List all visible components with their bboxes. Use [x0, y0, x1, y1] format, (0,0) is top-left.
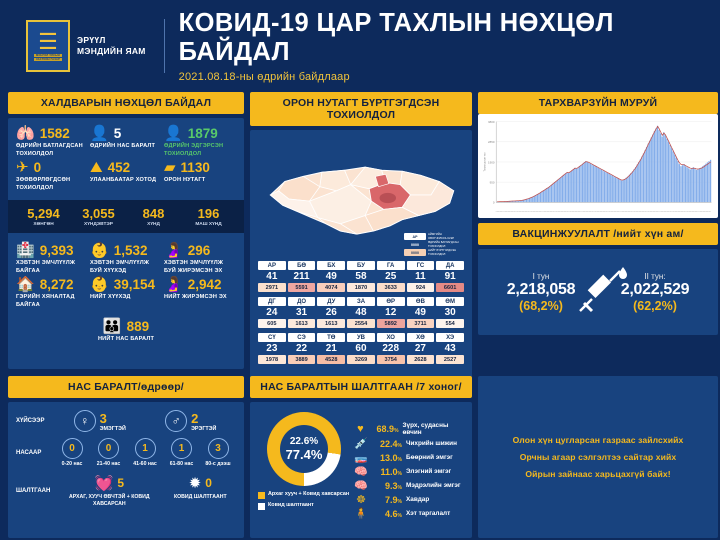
province-new-cases: 21: [317, 342, 345, 355]
death-causes-donut[interactable]: 22.6% 77.4%: [267, 412, 341, 486]
stat-value: 1879: [188, 126, 218, 141]
age-value: 0: [98, 438, 119, 459]
care-stat-value: 8,272: [40, 277, 74, 292]
death-causes-panel: НАС БАРАЛТЫН ШАЛТГААН /7 хоног/ 22.6% 77…: [250, 376, 472, 538]
province-total-cases: 605: [258, 319, 286, 328]
infection-stat-4: ⛰452УЛААНБААТАР ХОТОД: [90, 160, 162, 192]
death-causes-content: 22.6% 77.4% Архаг хууч + Ковид хавсарсан…: [258, 410, 464, 532]
advice-line-0: Олон хүн цугларсан газраас зайлсхийх: [513, 435, 684, 445]
mongolia-map[interactable]: АРАЙМГИЙН ОВОГЧИЛСОН НЭР0000ӨДРИЙН БАТЛА…: [258, 138, 464, 256]
stat-label: УЛААНБААТАР ХОТОД: [90, 177, 162, 185]
province-row-2: СҮ231978СЭ223889ТӨ214528УВ603269ХО228375…: [258, 333, 464, 364]
row-label-sex: ХҮЙСЭЭР: [16, 418, 54, 424]
svg-text:1900: 1900: [488, 160, 495, 164]
province-cell-ХӨ[interactable]: ХӨ272628: [407, 333, 435, 364]
map-panel: ОРОН НУТАГТ БҮРТГЭГДСЭН ТОХИОЛДОЛ: [250, 92, 472, 370]
province-cell-ДГ[interactable]: ДГ24605: [258, 297, 286, 328]
province-code: ХО: [377, 333, 405, 342]
province-code: ДГ: [258, 297, 286, 306]
pregnant-icon: 🤰: [164, 277, 183, 292]
hospital-icon: 🏥: [16, 243, 35, 258]
care-stat-value: 296: [188, 243, 211, 258]
map-legend-row-0: АРАЙМГИЙН ОВОГЧИЛСОН НЭР: [404, 233, 462, 240]
age-label: 21-40 нас: [91, 461, 127, 468]
advice-line-1: Орчны агаар сэлгэлтээ сайтар хийх: [520, 452, 677, 462]
male-icon: ♂: [165, 410, 187, 432]
condition-percent: 13.0%: [372, 453, 402, 463]
province-cell-УВ[interactable]: УВ603269: [347, 333, 375, 364]
province-cell-ДА[interactable]: ДА916601: [436, 261, 464, 292]
obesity-icon: 🧍: [354, 507, 368, 520]
donut-legend-item-1: Ковид шалтгаант: [258, 502, 350, 510]
province-code: ДА: [436, 261, 464, 270]
province-total-cases: 5591: [288, 283, 316, 292]
total-deaths-stat: 👪 889 НИЙТ НАС БАРАЛТ: [16, 319, 236, 344]
age-label: 61-80 нас: [164, 461, 200, 468]
province-new-cases: 91: [436, 270, 464, 283]
care-stat-top: 👶39,154: [90, 277, 162, 292]
care-stat-5: 🤰2,942НИЙТ ЖИРЭМСЭН ЭХ: [164, 277, 236, 309]
province-cell-ӨМ[interactable]: ӨМ30554: [436, 297, 464, 328]
dose-2-label: II тун:: [621, 272, 689, 281]
care-stat-top: 🏥9,393: [16, 243, 88, 258]
severity-item-0: 5,294ХӨНГӨН: [16, 206, 71, 227]
province-new-cases: 12: [377, 306, 405, 319]
province-code: СҮ: [258, 333, 286, 342]
dose-1-block: I тун 2,218,058 (68,2%): [507, 272, 575, 313]
care-stat-4: 👶39,154НИЙТ ХҮҮХЭД: [90, 277, 162, 309]
province-total-cases: 2554: [347, 319, 375, 328]
vaccination-panel-title: ВАКЦИНЖУУЛАЛТ /нийт хүн ам/: [478, 223, 718, 245]
province-cell-СҮ[interactable]: СҮ231978: [258, 333, 286, 364]
legend-chip: 0000: [404, 241, 426, 248]
child-face-icon: 👶: [90, 243, 109, 258]
age-item-4: 380-с дээш: [200, 438, 236, 468]
death-person-icon: 👪: [103, 319, 122, 334]
province-total-cases: 2628: [407, 355, 435, 364]
province-total-cases: 1613: [288, 319, 316, 328]
stat-value: 5: [114, 126, 122, 141]
care-stat-top: 👶1,532: [90, 243, 162, 258]
age-label: 80-с дээш: [200, 461, 236, 468]
condition-percent: 4.6%: [372, 509, 402, 519]
advice-panel: Олон хүн цугларсан газраас зайлсхийхОрчн…: [478, 376, 718, 538]
stat-label: ӨДРИЙН НАС БАРАЛТ: [90, 143, 162, 151]
death-causes-title: НАС БАРАЛТЫН ШАЛТГААН /7 хоног/: [250, 376, 472, 398]
province-code: БХ: [317, 261, 345, 270]
dose-1-label: I тун: [507, 272, 575, 281]
brain-icon: 🧠: [354, 479, 368, 492]
legend-text: АЙМГИЙН ОВОГЧИЛСОН НЭР: [428, 233, 462, 240]
condition-percent: 11.0%: [372, 467, 402, 477]
death-person-icon: 👤: [90, 126, 109, 141]
donut-legend-item-0: Архаг хууч + Ковид хавсарсан: [258, 491, 350, 499]
sex-text: 3ЭМЭГТЭЙ: [100, 411, 126, 432]
daily-deaths-body: ХҮЙСЭЭР ♀3ЭМЭГТЭЙ♂2ЭРЭГТЭЙ НАСААР 00-20 …: [8, 402, 244, 538]
province-total-cases: 5892: [377, 319, 405, 328]
daily-deaths-rows: ХҮЙСЭЭР ♀3ЭМЭГТЭЙ♂2ЭРЭГТЭЙ НАСААР 00-20 …: [16, 410, 236, 507]
sex-text: 2ЭРЭГТЭЙ: [191, 411, 216, 432]
province-new-cases: 49: [407, 306, 435, 319]
condition-name: Мэдрэлийн эмгэг: [406, 482, 461, 489]
mongolia-map-icon: ▰: [164, 160, 176, 175]
province-cell-ДУ[interactable]: ДУ261613: [317, 297, 345, 328]
page-title: КОВИД-19 ЦАР ТАХЛЫН НӨХЦӨЛ БАЙДАЛ: [179, 9, 704, 65]
care-stat-1: 👶1,532ХЭВТЭН ЭМЧЛҮҮЛЖ БУЙ ХҮҮХЭД: [90, 243, 162, 275]
ministry-line-2: МЭНДИЙН ЯАМ: [77, 46, 146, 57]
province-cell-БӨ[interactable]: БӨ2115591: [288, 261, 316, 292]
dose-2-block: II тун: 2,022,529 (62,2%): [621, 272, 689, 313]
row-label-cause: ШАЛТГААН: [16, 488, 54, 494]
logo-caption-line1: МОНГОЛ УЛСЫН: [34, 54, 62, 57]
total-deaths-top: 👪 889: [16, 319, 236, 334]
province-new-cases: 22: [288, 342, 316, 355]
province-code: БӨ: [288, 261, 316, 270]
care-stat-label: НИЙТ ХҮҮХЭД: [90, 294, 162, 302]
severity-label: ХӨНГӨН: [16, 222, 71, 227]
conditions-list: ♥68.9%Зүрх, судасны өвчин💉22.4%Чихрийн ш…: [354, 410, 464, 532]
province-new-cases: 24: [258, 306, 286, 319]
cause-top: 💓5: [63, 474, 155, 492]
stat-label: ӨДРИЙН БАТЛАГДСАН ТОХИОЛДОЛ: [16, 143, 88, 158]
condition-name: Элэгний эмгэг: [406, 468, 451, 475]
pregnant-icon: 🤰: [164, 243, 183, 258]
condition-row-3: 🧠11.0%Элэгний эмгэг: [354, 465, 464, 478]
condition-percent: 22.4%: [372, 439, 402, 449]
care-stat-top: 🏠8,272: [16, 277, 88, 292]
infection-stat-0: 🫁1582ӨДРИЙН БАТЛАГДСАН ТОХИОЛДОЛ: [16, 126, 88, 158]
child-face-icon: 👶: [90, 277, 109, 292]
sex-value: 2: [191, 411, 216, 426]
row-label-age: НАСААР: [16, 450, 54, 456]
province-cell-ГА[interactable]: ГА253633: [377, 261, 405, 292]
province-total-cases: 2971: [258, 283, 286, 292]
epidemic-curve-chart[interactable]: 0950190028503800||||||||||||||||||||||||…: [478, 114, 718, 218]
sex-item-1: ♂2ЭРЭГТЭЙ: [165, 410, 216, 432]
province-new-cases: 211: [288, 270, 316, 283]
province-new-cases: 49: [317, 270, 345, 283]
stat-top: ▰1130: [164, 160, 236, 175]
care-stat-top: 🤰296: [164, 243, 236, 258]
province-table: АР412971БӨ2115591БХ494074БУ581870ГА25363…: [258, 261, 464, 364]
province-total-cases: 1613: [317, 319, 345, 328]
heart-icon: ♥: [354, 423, 367, 435]
infection-stat-3: ✈0ЗӨӨВӨРЛӨГДСӨН ТОХИОЛДОЛ: [16, 160, 88, 192]
dashboard-grid: ХАЛДВАРЫН НӨХЦӨЛ БАЙДАЛ 🫁1582ӨДРИЙН БАТЛ…: [0, 92, 720, 538]
care-stat-2: 🤰296ХЭВТЭН ЭМЧЛҮҮЛЖ БУЙ ЖИРЭМСЭН ЭХ: [164, 243, 236, 275]
header-divider: [164, 19, 165, 73]
care-stat-label: ХЭВТЭН ЭМЧЛҮҮЛЖ БУЙ ЖИРЭМСЭН ЭХ: [164, 260, 236, 275]
province-cell-ДО[interactable]: ДО311613: [288, 297, 316, 328]
province-cell-ЗА[interactable]: ЗА482554: [347, 297, 375, 328]
cause-breakdown: 💓5АРХАГ, ХУУЧ ӨВЧТЭЙ + КОВИД ХАВСАРСАН✹0…: [54, 474, 236, 508]
province-total-cases: 4528: [317, 355, 345, 364]
care-stat-0: 🏥9,393ХЭВТЭН ЭМЧЛҮҮЛЖ БАЙГАА: [16, 243, 88, 275]
condition-percent: 68.9%: [371, 424, 399, 434]
dose-1-value: 2,218,058: [507, 281, 575, 299]
condition-name: Хэт таргалалт: [406, 510, 450, 517]
province-total-cases: 3889: [288, 355, 316, 364]
legend-text: ӨДРИЙН БАТЛАГДСАН ТОХИОЛДОЛ: [428, 241, 462, 248]
insulin-pen-icon: 💉: [354, 437, 368, 450]
severity-item-2: 848ХҮНД: [126, 206, 181, 227]
province-code: ДУ: [317, 297, 345, 306]
sex-breakdown: ♀3ЭМЭГТЭЙ♂2ЭРЭГТЭЙ: [54, 410, 236, 432]
curve-panel-title: ТАРХВАРЗҮЙН МУРУЙ: [478, 92, 718, 114]
svg-text:3800: 3800: [488, 120, 495, 124]
province-code: УВ: [347, 333, 375, 342]
page-header: ☰ МОНГОЛ УЛСЫН ЗАСГИЙН ГАЗАР ЭРҮҮЛ МЭНДИ…: [0, 0, 720, 92]
condition-percent: 9.3%: [372, 481, 402, 491]
province-total-cases: 1978: [258, 355, 286, 364]
stat-value: 452: [108, 160, 131, 175]
province-total-cases: 1870: [347, 283, 375, 292]
ub-monument-icon: ⛰: [90, 160, 103, 175]
care-stat-value: 1,532: [114, 243, 148, 258]
sex-label: ЭМЭГТЭЙ: [100, 426, 126, 432]
infection-stat-1: 👤5ӨДРИЙН НАС БАРАЛТ: [90, 126, 162, 158]
condition-row-5: ☸7.9%Хавдар: [354, 493, 464, 506]
map-legend-row-2: 0000НИЙТ БҮРТГЭГДСЭН ТОХИОЛДОЛ: [404, 249, 462, 256]
daily-deaths-panel: НАС БАРАЛТ/өдрөөр/ ХҮЙСЭЭР ♀3ЭМЭГТЭЙ♂2ЭР…: [8, 376, 244, 538]
severity-item-1: 3,055ХҮНДЭВТЭР: [71, 206, 126, 227]
province-total-cases: 3633: [377, 283, 405, 292]
legend-swatch: [258, 492, 265, 499]
age-value: 0: [62, 438, 83, 459]
care-stat-value: 39,154: [114, 277, 155, 292]
death-cause-item-1: ✹0КОВИД ШАЛТГААНТ: [174, 474, 227, 501]
severity-strip: 5,294ХӨНГӨН3,055ХҮНДЭВТЭР848ХҮНД196МАШ Х…: [8, 200, 244, 233]
care-stat-3: 🏠8,272ГЭРИЙН ХЯНАЛТАД БАЙГАА: [16, 277, 88, 309]
ministry-logo-block: ☰ МОНГОЛ УЛСЫН ЗАСГИЙН ГАЗАР ЭРҮҮЛ МЭНДИ…: [16, 20, 146, 72]
cause-top: ✹0: [174, 474, 227, 492]
stat-top: 🫁1582: [16, 126, 88, 141]
province-new-cases: 228: [377, 342, 405, 355]
stat-label: ӨДРИЙН ЭДГЭРСЭН ТОХИОЛДОЛ: [164, 143, 236, 158]
care-stat-label: НИЙТ ЖИРЭМСЭН ЭХ: [164, 294, 236, 302]
province-new-cases: 60: [347, 342, 375, 355]
stat-value: 0: [34, 160, 42, 175]
map-legend: АРАЙМГИЙН ОВОГЧИЛСОН НЭР0000ӨДРИЙН БАТЛА…: [404, 233, 462, 256]
condition-row-2: 🧫13.0%Бөөрний эмгэг: [354, 451, 464, 464]
province-cell-ТӨ[interactable]: ТӨ214528: [317, 333, 345, 364]
province-code: ДО: [288, 297, 316, 306]
infection-top-stats: 🫁1582ӨДРИЙН БАТЛАГДСАН ТОХИОЛДОЛ👤5ӨДРИЙН…: [16, 126, 236, 192]
dose-2-percent: (62,2%): [621, 299, 689, 313]
province-code: ЗА: [347, 297, 375, 306]
legend-label: Ковид шалтгаант: [268, 502, 314, 509]
care-stat-label: ГЭРИЙН ХЯНАЛТАД БАЙГАА: [16, 294, 88, 309]
province-new-cases: 25: [377, 270, 405, 283]
legend-label: Архаг хууч + Ковид хавсарсан: [268, 491, 349, 498]
daily-deaths-title: НАС БАРАЛТ/өдрөөр/: [8, 376, 244, 398]
province-new-cases: 27: [407, 342, 435, 355]
condition-name: Хавдар: [406, 496, 429, 503]
home-icon: 🏠: [16, 277, 35, 292]
condition-name: Бөөрний эмгэг: [406, 454, 453, 461]
stat-top: ✈0: [16, 160, 88, 175]
death-causes-body: 22.6% 77.4% Архаг хууч + Ковид хавсарсан…: [250, 402, 472, 538]
legend-chip: 0000: [404, 249, 426, 256]
province-new-cases: 48: [347, 306, 375, 319]
legend-text: НИЙТ БҮРТГЭГДСЭН ТОХИОЛДОЛ: [428, 249, 462, 256]
donut-legend: Архаг хууч + Ковид хавсарсанКовид шалтга…: [258, 491, 350, 510]
recovered-person-icon: 👤: [164, 126, 183, 141]
province-cell-ӨР[interactable]: ӨР125892: [377, 297, 405, 328]
province-row-0: АР412971БӨ2115591БХ494074БУ581870ГА25363…: [258, 261, 464, 292]
cause-value: 5: [117, 476, 124, 490]
province-new-cases: 41: [258, 270, 286, 283]
soyombo-symbol-icon: ☰: [38, 31, 58, 53]
severity-value: 5,294: [16, 206, 71, 221]
severity-value: 848: [126, 206, 181, 221]
severity-label: МАШ ХҮНД: [181, 222, 236, 227]
covid-only-percent: 22.6%: [290, 436, 318, 447]
stat-value: 1582: [40, 126, 70, 141]
comorbid-percent: 77.4%: [286, 447, 323, 462]
severity-item-3: 196МАШ ХҮНД: [181, 206, 236, 227]
map-legend-row-1: 0000ӨДРИЙН БАТЛАГДСАН ТОХИОЛДОЛ: [404, 241, 462, 248]
total-deaths-label: НИЙТ НАС БАРАЛТ: [16, 336, 236, 344]
province-new-cases: 43: [436, 342, 464, 355]
svg-text:Тохиолдлын тоо: Тохиолдлын тоо: [483, 152, 487, 172]
province-total-cases: 4074: [317, 283, 345, 292]
age-value: 1: [171, 438, 192, 459]
epidemic-curve-svg: 0950190028503800||||||||||||||||||||||||…: [481, 117, 715, 215]
province-code: СЭ: [288, 333, 316, 342]
infection-stat-2: 👤1879ӨДРИЙН ЭДГЭРСЭН ТОХИОЛДОЛ: [164, 126, 236, 158]
age-item-2: 141-60 нас: [127, 438, 163, 468]
province-total-cases: 3269: [347, 355, 375, 364]
dose-2-value: 2,022,529: [621, 281, 689, 299]
province-total-cases: 554: [436, 319, 464, 328]
province-total-cases: 924: [407, 283, 435, 292]
care-stats: 🏥9,393ХЭВТЭН ЭМЧЛҮҮЛЖ БАЙГАА👶1,532ХЭВТЭН…: [16, 243, 236, 309]
province-new-cases: 30: [436, 306, 464, 319]
ministry-name: ЭРҮҮЛ МЭНДИЙН ЯАМ: [77, 35, 146, 58]
severity-value: 196: [181, 206, 236, 221]
condition-name: Зүрх, судасны өвчин: [403, 422, 464, 436]
age-label: 0-20 нас: [54, 461, 90, 468]
age-value: 1: [135, 438, 156, 459]
care-stat-label: ХЭВТЭН ЭМЧЛҮҮЛЖ БУЙ ХҮҮХЭД: [90, 260, 162, 275]
female-icon: ♀: [74, 410, 96, 432]
virus-icon: ✹: [189, 474, 202, 492]
cancer-cell-icon: ☸: [354, 493, 368, 506]
svg-text:2850: 2850: [488, 140, 495, 144]
age-label: 41-60 нас: [127, 461, 163, 468]
government-emblem-icon: ☰ МОНГОЛ УЛСЫН ЗАСГИЙН ГАЗАР: [26, 20, 70, 72]
dose-1-percent: (68,2%): [507, 299, 575, 313]
care-stat-top: 🤰2,942: [164, 277, 236, 292]
province-cell-ГС[interactable]: ГС11924: [407, 261, 435, 292]
province-total-cases: 3754: [377, 355, 405, 364]
page-subtitle: 2021.08.18-ны өдрийн байдлаар: [179, 71, 704, 83]
age-breakdown: 00-20 нас021-40 нас141-60 нас161-80 нас3…: [54, 438, 236, 468]
province-new-cases: 58: [347, 270, 375, 283]
kidney-icon: 🧫: [354, 451, 368, 464]
airplane-icon: ✈: [16, 160, 29, 175]
province-cell-ӨВ[interactable]: ӨВ493711: [407, 297, 435, 328]
condition-row-1: 💉22.4%Чихрийн шижин: [354, 437, 464, 450]
liver-icon: 🧠: [354, 465, 368, 478]
vaccination-panel-body: I тун 2,218,058 (68,2%) II тун: 2,022,52…: [478, 249, 718, 335]
province-cell-АР[interactable]: АР412971: [258, 261, 286, 292]
stat-top: ⛰452: [90, 160, 162, 175]
map-panel-title: ОРОН НУТАГТ БҮРТГЭГДСЭН ТОХИОЛДОЛ: [250, 92, 472, 126]
stat-value: 1130: [181, 160, 210, 175]
death-cause-item-0: 💓5АРХАГ, ХУУЧ ӨВЧТЭЙ + КОВИД ХАВСАРСАН: [63, 474, 155, 508]
province-total-cases: 3711: [407, 319, 435, 328]
heartbeat-icon: 💓: [95, 474, 114, 492]
condition-name: Чихрийн шижин: [406, 440, 457, 447]
stat-label: ЗӨӨВӨРЛӨГДСӨН ТОХИОЛДОЛ: [16, 177, 88, 192]
province-new-cases: 11: [407, 270, 435, 283]
infection-panel-body: 🫁1582ӨДРИЙН БАТЛАГДСАН ТОХИОЛДОЛ👤5ӨДРИЙН…: [8, 118, 244, 369]
advice-box: Олон хүн цугларсан газраас зайлсхийхОрчн…: [478, 376, 718, 538]
infection-panel-title: ХАЛДВАРЫН НӨХЦӨЛ БАЙДАЛ: [8, 92, 244, 114]
sex-value: 3: [100, 411, 126, 426]
cause-value: 0: [205, 476, 212, 490]
province-row-1: ДГ24605ДО311613ДУ261613ЗА482554ӨР125892Ө…: [258, 297, 464, 328]
province-total-cases: 2527: [436, 355, 464, 364]
province-cell-ХЭ[interactable]: ХЭ432527: [436, 333, 464, 364]
condition-row-0: ♥68.9%Зүрх, судасны өвчин: [354, 422, 464, 436]
legend-chip: АР: [404, 233, 426, 240]
province-code: ТӨ: [317, 333, 345, 342]
severity-label: ХҮНДЭВТЭР: [71, 222, 126, 227]
province-cell-БХ[interactable]: БХ494074: [317, 261, 345, 292]
province-new-cases: 31: [288, 306, 316, 319]
condition-percent: 7.9%: [372, 495, 402, 505]
province-code: ӨМ: [436, 297, 464, 306]
cause-label: АРХАГ, ХУУЧ ӨВЧТЭЙ + КОВИД ХАВСАРСАН: [63, 494, 155, 508]
age-item-1: 021-40 нас: [91, 438, 127, 468]
condition-row-6: 🧍4.6%Хэт таргалалт: [354, 507, 464, 520]
age-item-3: 161-80 нас: [164, 438, 200, 468]
province-code: ХЭ: [436, 333, 464, 342]
sex-label: ЭРЭГТЭЙ: [191, 426, 216, 432]
province-new-cases: 26: [317, 306, 345, 319]
advice-line-2: Ойрын зайнаас харьцахгүй байх!: [525, 469, 670, 479]
severity-value: 3,055: [71, 206, 126, 221]
stat-top: 👤5: [90, 126, 162, 141]
donut-center: 22.6% 77.4%: [280, 425, 328, 473]
care-stat-value: 9,393: [40, 243, 74, 258]
province-new-cases: 23: [258, 342, 286, 355]
province-code: БУ: [347, 261, 375, 270]
province-cell-БУ[interactable]: БУ581870: [347, 261, 375, 292]
stat-top: 👤1879: [164, 126, 236, 141]
title-block: КОВИД-19 ЦАР ТАХЛЫН НӨХЦӨЛ БАЙДАЛ 2021.0…: [179, 9, 704, 82]
province-code: ХӨ: [407, 333, 435, 342]
province-cell-ХО[interactable]: ХО2283754: [377, 333, 405, 364]
donut-column: 22.6% 77.4% Архаг хууч + Ковид хавсарсан…: [258, 410, 350, 532]
stat-label: ОРОН НУТАГТ: [164, 177, 236, 185]
infection-stat-5: ▰1130ОРОН НУТАГТ: [164, 160, 236, 192]
care-stat-label: ХЭВТЭН ЭМЧЛҮҮЛЖ БАЙГАА: [16, 260, 88, 275]
condition-row-4: 🧠9.3%Мэдрэлийн эмгэг: [354, 479, 464, 492]
logo-caption-line2: ЗАСГИЙН ГАЗАР: [34, 58, 62, 61]
province-code: АР: [258, 261, 286, 270]
province-code: ӨВ: [407, 297, 435, 306]
province-cell-СЭ[interactable]: СЭ223889: [288, 333, 316, 364]
severity-label: ХҮНД: [126, 222, 181, 227]
legend-swatch: [258, 503, 265, 510]
province-code: ГС: [407, 261, 435, 270]
svg-text:950: 950: [490, 181, 495, 185]
province-code: ӨР: [377, 297, 405, 306]
